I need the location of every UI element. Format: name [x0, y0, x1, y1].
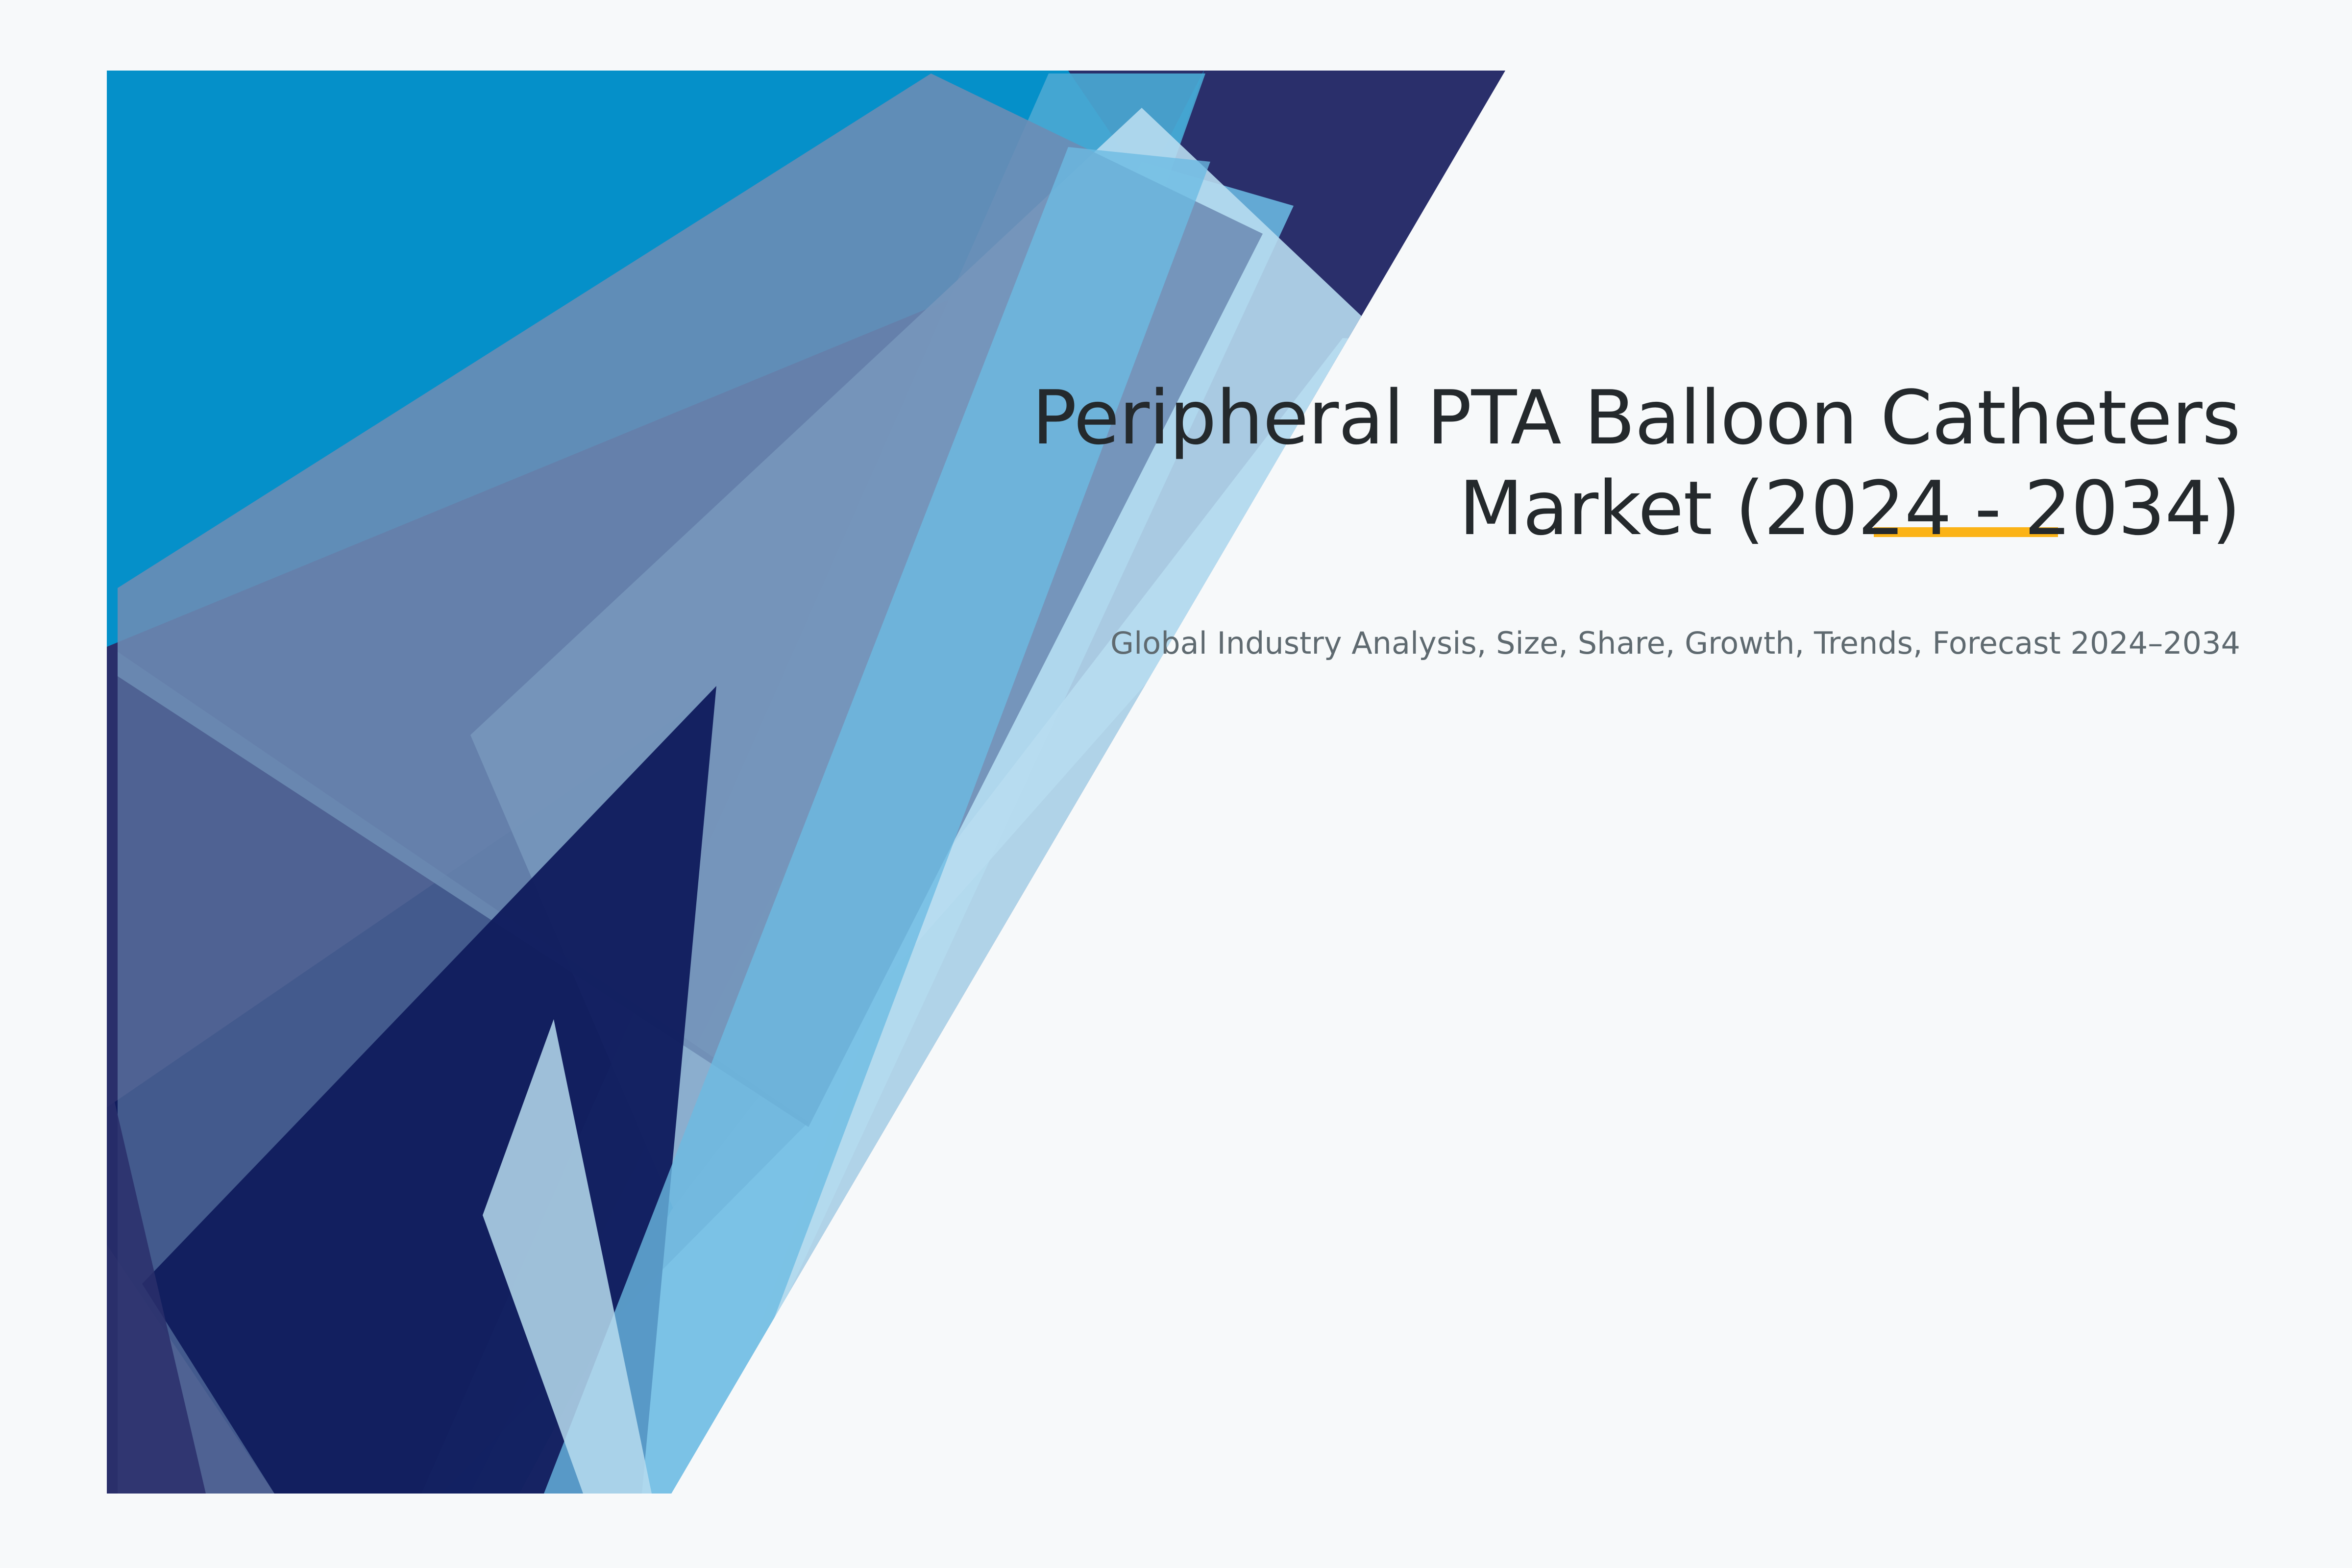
hero-text-block: Peripheral PTA Balloon Catheters Market …	[966, 372, 2240, 664]
page-subtitle: Global Industry Analysis, Size, Share, G…	[966, 554, 2240, 664]
abstract-banner-artwork	[0, 0, 2352, 1568]
slide-canvas: Peripheral PTA Balloon Catheters Market …	[0, 0, 2352, 1568]
page-title: Peripheral PTA Balloon Catheters Market …	[966, 372, 2240, 554]
